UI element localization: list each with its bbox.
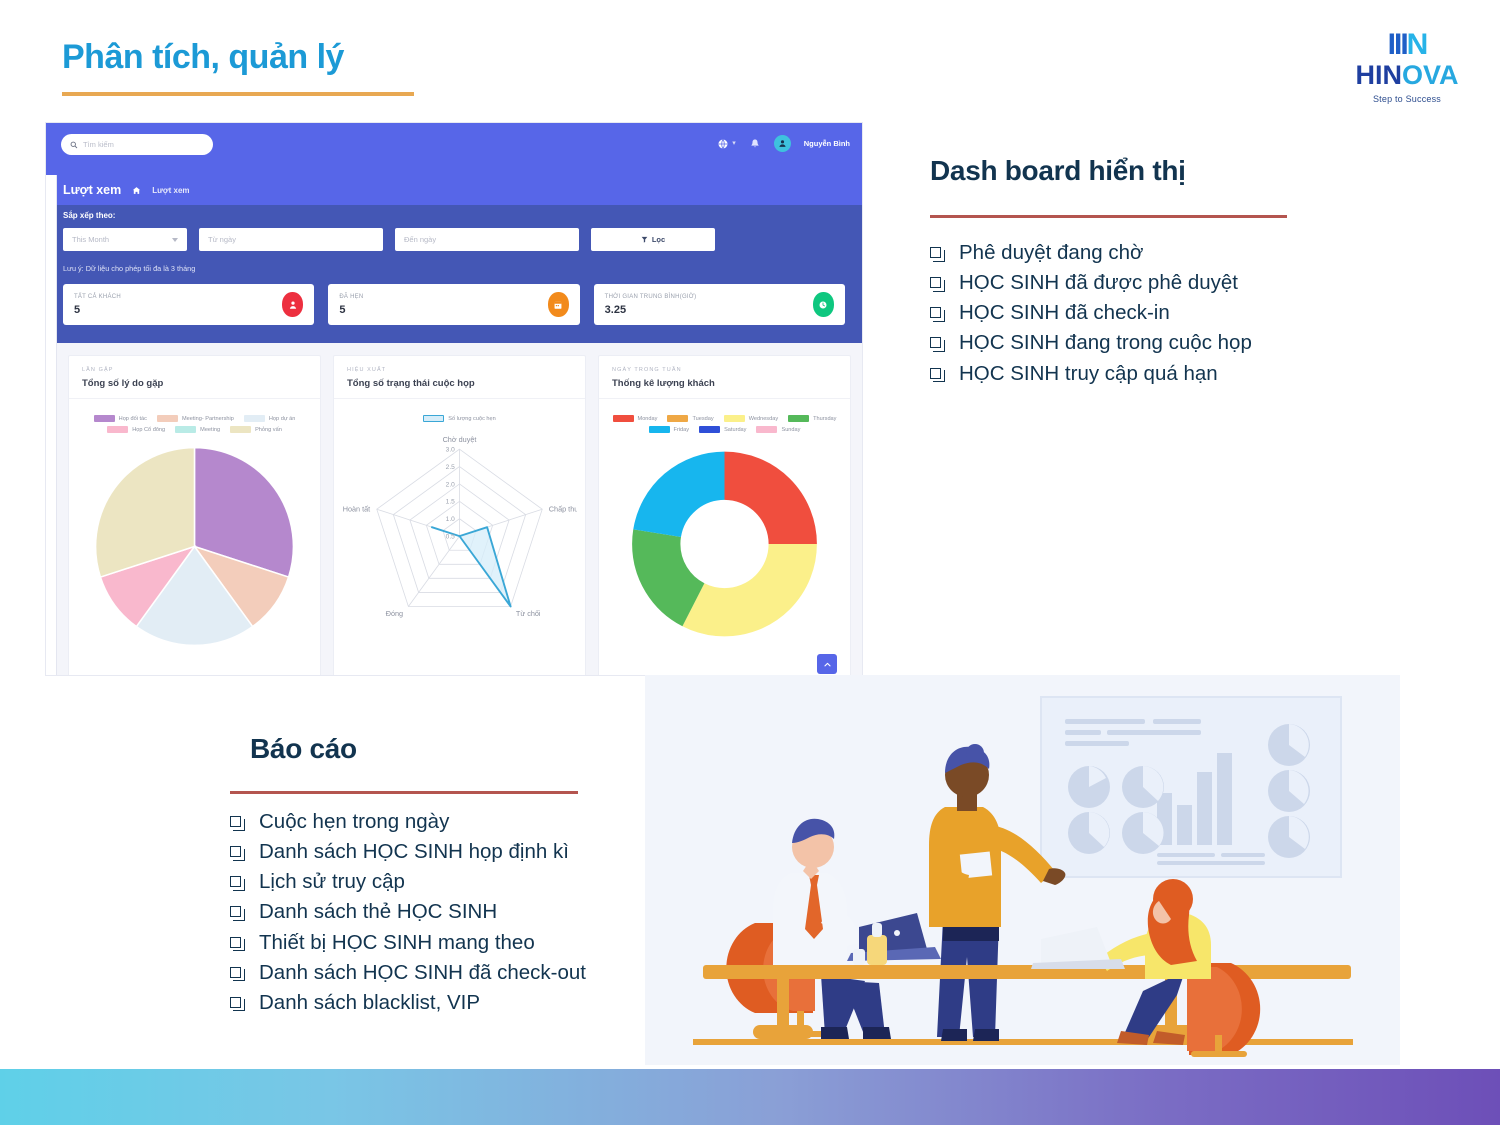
chart-legend: Monday Tuesday Wednesday Thursday Friday… <box>599 399 850 433</box>
scroll-to-top-button[interactable] <box>817 654 837 674</box>
list-item: Danh sách HỌC SINH đã check-out <box>230 958 630 988</box>
legend-swatch <box>649 426 670 433</box>
sidebar-edge <box>46 175 57 675</box>
block-title: Báo cáo <box>250 733 630 765</box>
bullet-square-icon <box>230 967 241 978</box>
radar-chart: Chờ duyệt Chấp thuận Từ chối Đóng Hoàn t… <box>334 428 585 656</box>
filter-button[interactable]: Lọc <box>591 228 715 251</box>
legend-label: Meeting <box>200 427 220 433</box>
logo-mark-icon: IIIN <box>1342 30 1472 60</box>
legend-label: Họp Cổ đông <box>132 427 165 433</box>
avatar[interactable] <box>774 135 791 152</box>
bullet-square-icon <box>930 337 941 348</box>
page-title: Phân tích, quản lý <box>62 38 344 77</box>
pie-chart <box>69 439 320 654</box>
dashboard-screenshot: Tìm kiếm ▾ <box>45 122 863 676</box>
bell-icon[interactable] <box>749 138 761 150</box>
bullet-square-icon <box>930 277 941 288</box>
legend-label: Số lượng cuộc hẹn <box>448 416 496 422</box>
period-select[interactable]: This Month <box>63 228 187 251</box>
from-date-input[interactable]: Từ ngày <box>199 228 383 251</box>
title-underline <box>62 92 414 96</box>
block-underline <box>230 791 578 794</box>
radar-chart-svg: Chờ duyệt Chấp thuận Từ chối Đóng Hoàn t… <box>342 428 577 656</box>
logo-name-right: OVA <box>1402 60 1459 90</box>
list-item-label: Lịch sử truy cập <box>259 867 405 897</box>
radar-tick-3: 3.0 <box>446 447 455 454</box>
filter-row: This Month Từ ngày Đến ngày Lọc <box>63 228 862 251</box>
bullet-square-icon <box>230 937 241 948</box>
user-icon <box>778 139 787 148</box>
dashboard-topbar: Tìm kiếm ▾ <box>46 123 862 175</box>
legend-item[interactable]: Họp đối tác <box>94 415 147 422</box>
legend-label: Saturday <box>724 427 746 433</box>
list-item: Phê duyệt đang chờ <box>930 238 1360 268</box>
logo-mark-right: N <box>1407 28 1427 61</box>
legend-item[interactable]: Sunday <box>756 426 800 433</box>
chart-header: NGÀY TRONG TUẦN Thống kê lượng khách <box>599 356 850 399</box>
dashboard-feature-list: Phê duyệt đang chờ HỌC SINH đã được phê … <box>930 238 1360 389</box>
stat-label: TẤT CẢ KHÁCH <box>74 294 121 300</box>
chart-card-weekday-guests: NGÀY TRONG TUẦN Thống kê lượng khách Mon… <box>598 355 851 676</box>
legend-label: Monday <box>638 416 658 422</box>
to-date-input[interactable]: Đến ngày <box>395 228 579 251</box>
period-value: This Month <box>72 235 109 244</box>
legend-item[interactable]: Wednesday <box>724 415 778 422</box>
chart-eyebrow: LẦN GẶP <box>82 367 307 373</box>
list-item-label: Danh sách blacklist, VIP <box>259 988 480 1018</box>
chart-header: HIỆU XUẤT Tổng số trạng thái cuộc họp <box>334 356 585 399</box>
radar-tick-25: 2.5 <box>446 464 455 471</box>
stat-card-all-guests: TẤT CẢ KHÁCH 5 <box>63 284 314 325</box>
block-underline <box>930 215 1287 218</box>
legend-label: Wednesday <box>749 416 778 422</box>
bullet-square-icon <box>930 247 941 258</box>
list-item-label: HỌC SINH đang trong cuộc họp <box>959 328 1252 358</box>
list-item: Cuộc hẹn trong ngày <box>230 807 630 837</box>
radar-tick-05: 0.5 <box>446 533 455 540</box>
stat-value: 5 <box>339 304 363 316</box>
report-features-block: Báo cáo Cuộc hẹn trong ngày Danh sách HỌ… <box>230 733 630 1018</box>
chart-card-meeting-status: HIỆU XUẤT Tổng số trạng thái cuộc họp Số… <box>333 355 586 676</box>
search-input[interactable]: Tìm kiếm <box>61 134 213 155</box>
radar-tick-1: 1.0 <box>446 516 455 523</box>
logo-mark-left: III <box>1388 28 1407 61</box>
chart-title: Thống kê lượng khách <box>612 378 837 389</box>
list-item-label: Danh sách HỌC SINH họp định kì <box>259 837 569 867</box>
search-icon <box>70 141 78 149</box>
legend-item[interactable]: Saturday <box>699 426 746 433</box>
bullet-square-icon <box>930 307 941 318</box>
legend-item[interactable]: Họp dự án <box>244 415 295 422</box>
legend-item[interactable]: Số lượng cuộc hẹn <box>423 415 496 422</box>
chart-title: Tổng số lý do gặp <box>82 378 307 389</box>
legend-label: Sunday <box>781 427 800 433</box>
stat-card-appointments: ĐÃ HẸN 5 <box>328 284 579 325</box>
illustration-svg <box>645 675 1400 1065</box>
legend-label: Họp dự án <box>269 416 295 422</box>
stat-card-avg-time: THỜI GIAN TRUNG BÌNH(GIỜ) 3.25 <box>594 284 845 325</box>
footer-gradient-bar <box>0 1069 1500 1125</box>
list-item-label: HỌC SINH đã check-in <box>959 298 1170 328</box>
radar-axis-label-tu-choi: Từ chối <box>516 609 541 618</box>
list-item-label: Danh sách HỌC SINH đã check-out <box>259 958 586 988</box>
legend-label: Phỏng vấn <box>255 427 282 433</box>
chart-header: LẦN GẶP Tổng số lý do gặp <box>69 356 320 399</box>
brand-logo: IIIN HINOVA Step to Success <box>1342 30 1472 104</box>
legend-swatch <box>175 426 196 433</box>
dashboard-features-block: Dash board hiển thị Phê duyệt đang chờ H… <box>930 155 1360 389</box>
language-selector[interactable]: ▾ <box>717 138 736 150</box>
chart-legend: Họp đối tác Meeting- Partnership Họp dự … <box>69 399 320 433</box>
chart-title: Tổng số trạng thái cuộc họp <box>347 378 572 389</box>
chart-card-meeting-reasons: LẦN GẶP Tổng số lý do gặp Họp đối tác Me… <box>68 355 321 676</box>
legend-swatch <box>788 415 809 422</box>
legend-item[interactable]: Tuesday <box>667 415 713 422</box>
breadcrumb: Lượt xem Lượt xem <box>46 175 862 205</box>
search-placeholder: Tìm kiếm <box>83 140 114 149</box>
list-item: Lịch sử truy cập <box>230 867 630 897</box>
pie-chart-svg <box>82 439 307 654</box>
logo-wordmark: HINOVA <box>1342 61 1472 91</box>
chevron-down-icon: ▾ <box>732 140 736 147</box>
globe-icon <box>717 138 729 150</box>
stat-value: 3.25 <box>605 304 697 316</box>
bullet-square-icon <box>230 816 241 827</box>
legend-swatch <box>107 426 128 433</box>
chart-eyebrow: HIỆU XUẤT <box>347 367 572 373</box>
chart-legend: Số lượng cuộc hẹn <box>334 399 585 422</box>
legend-label: Meeting- Partnership <box>182 416 234 422</box>
radar-axis-label-dong: Đóng <box>386 609 403 618</box>
radar-tick-15: 1.5 <box>446 499 455 506</box>
stat-cards: TẤT CẢ KHÁCH 5 ĐÃ HẸN 5 <box>63 284 862 325</box>
user-name-label: Nguyễn Bình <box>804 139 850 148</box>
radar-tick-2: 2.0 <box>446 481 455 488</box>
slide-root: Phân tích, quản lý IIIN HINOVA Step to S… <box>0 0 1500 1125</box>
list-item: HỌC SINH đang trong cuộc họp <box>930 328 1360 358</box>
list-item: Thiết bị HỌC SINH mang theo <box>230 928 630 958</box>
logo-tagline: Step to Success <box>1342 94 1472 104</box>
bullet-square-icon <box>230 997 241 1008</box>
legend-swatch <box>724 415 745 422</box>
legend-item[interactable]: Meeting <box>175 426 220 433</box>
report-feature-list: Cuộc hẹn trong ngày Danh sách HỌC SINH h… <box>230 807 630 1018</box>
legend-swatch <box>244 415 265 422</box>
chevron-down-icon <box>172 238 178 242</box>
filter-panel: Sắp xếp theo: This Month Từ ngày Đến ngà… <box>46 205 862 343</box>
legend-swatch <box>613 415 634 422</box>
filter-label: Sắp xếp theo: <box>63 211 862 220</box>
chevron-up-icon <box>823 660 832 669</box>
breadcrumb-link[interactable]: Lượt xem <box>152 186 189 195</box>
chart-eyebrow: NGÀY TRONG TUẦN <box>612 367 837 373</box>
list-item: HỌC SINH đã được phê duyệt <box>930 268 1360 298</box>
legend-swatch <box>423 415 444 422</box>
bullet-square-icon <box>230 876 241 887</box>
list-item-label: Cuộc hẹn trong ngày <box>259 807 449 837</box>
donut-chart <box>599 439 850 649</box>
from-date-placeholder: Từ ngày <box>208 235 236 244</box>
calendar-icon <box>548 292 569 317</box>
legend-label: Tuesday <box>692 416 713 422</box>
stat-value: 5 <box>74 304 121 316</box>
radar-axis-label-hoan-tat: Hoàn tất <box>343 504 370 513</box>
clock-icon <box>813 292 834 317</box>
legend-item[interactable]: Friday <box>649 426 690 433</box>
filter-note: Lưu ý: Dữ liệu cho phép tối đa là 3 thán… <box>63 264 862 273</box>
logo-name-left: HIN <box>1355 60 1402 90</box>
list-item: Danh sách blacklist, VIP <box>230 988 630 1018</box>
home-icon[interactable] <box>132 186 141 195</box>
to-date-placeholder: Đến ngày <box>404 235 436 244</box>
list-item-label: HỌC SINH truy cập quá hạn <box>959 359 1218 389</box>
list-item-label: Danh sách thẻ HỌC SINH <box>259 897 497 927</box>
legend-swatch <box>94 415 115 422</box>
legend-swatch <box>699 426 720 433</box>
stat-label: THỜI GIAN TRUNG BÌNH(GIỜ) <box>605 294 697 300</box>
bullet-square-icon <box>230 906 241 917</box>
page-heading: Lượt xem <box>63 183 121 197</box>
legend-label: Thursday <box>813 416 836 422</box>
list-item: HỌC SINH đã check-in <box>930 298 1360 328</box>
topbar-actions: ▾ Nguyễn Bình <box>717 135 850 152</box>
list-item: Danh sách thẻ HỌC SINH <box>230 897 630 927</box>
legend-swatch <box>756 426 777 433</box>
legend-item[interactable]: Phỏng vấn <box>230 426 282 433</box>
radar-axis-label-chap-thuan: Chấp thuận <box>549 504 577 513</box>
presentation-board-icon <box>1041 697 1341 877</box>
bullet-square-icon <box>230 846 241 857</box>
block-title: Dash board hiển thị <box>930 155 1360 187</box>
list-item: Danh sách HỌC SINH họp định kì <box>230 837 630 867</box>
list-item-label: Phê duyệt đang chờ <box>959 238 1143 268</box>
legend-item[interactable]: Meeting- Partnership <box>157 415 234 422</box>
list-item-label: Thiết bị HỌC SINH mang theo <box>259 928 535 958</box>
filter-button-label: Lọc <box>652 235 665 244</box>
legend-swatch <box>230 426 251 433</box>
radar-axis-label-cho-duyet: Chờ duyệt <box>443 435 477 444</box>
legend-item[interactable]: Họp Cổ đông <box>107 426 165 433</box>
legend-item[interactable]: Monday <box>613 415 658 422</box>
legend-label: Friday <box>674 427 690 433</box>
business-team-meeting-illustration <box>645 675 1400 1065</box>
list-item-label: HỌC SINH đã được phê duyệt <box>959 268 1238 298</box>
list-item: HỌC SINH truy cập quá hạn <box>930 359 1360 389</box>
legend-label: Họp đối tác <box>119 416 147 422</box>
donut-chart-svg <box>617 439 832 649</box>
bullet-square-icon <box>930 368 941 379</box>
radar-series-so-luong-cuoc-hen <box>432 527 511 606</box>
charts-area: LẦN GẶP Tổng số lý do gặp Họp đối tác Me… <box>46 343 862 676</box>
stat-label: ĐÃ HẸN <box>339 294 363 300</box>
legend-item[interactable]: Thursday <box>788 415 836 422</box>
user-icon <box>282 292 303 317</box>
legend-swatch <box>157 415 178 422</box>
legend-swatch <box>667 415 688 422</box>
funnel-icon <box>641 236 648 243</box>
